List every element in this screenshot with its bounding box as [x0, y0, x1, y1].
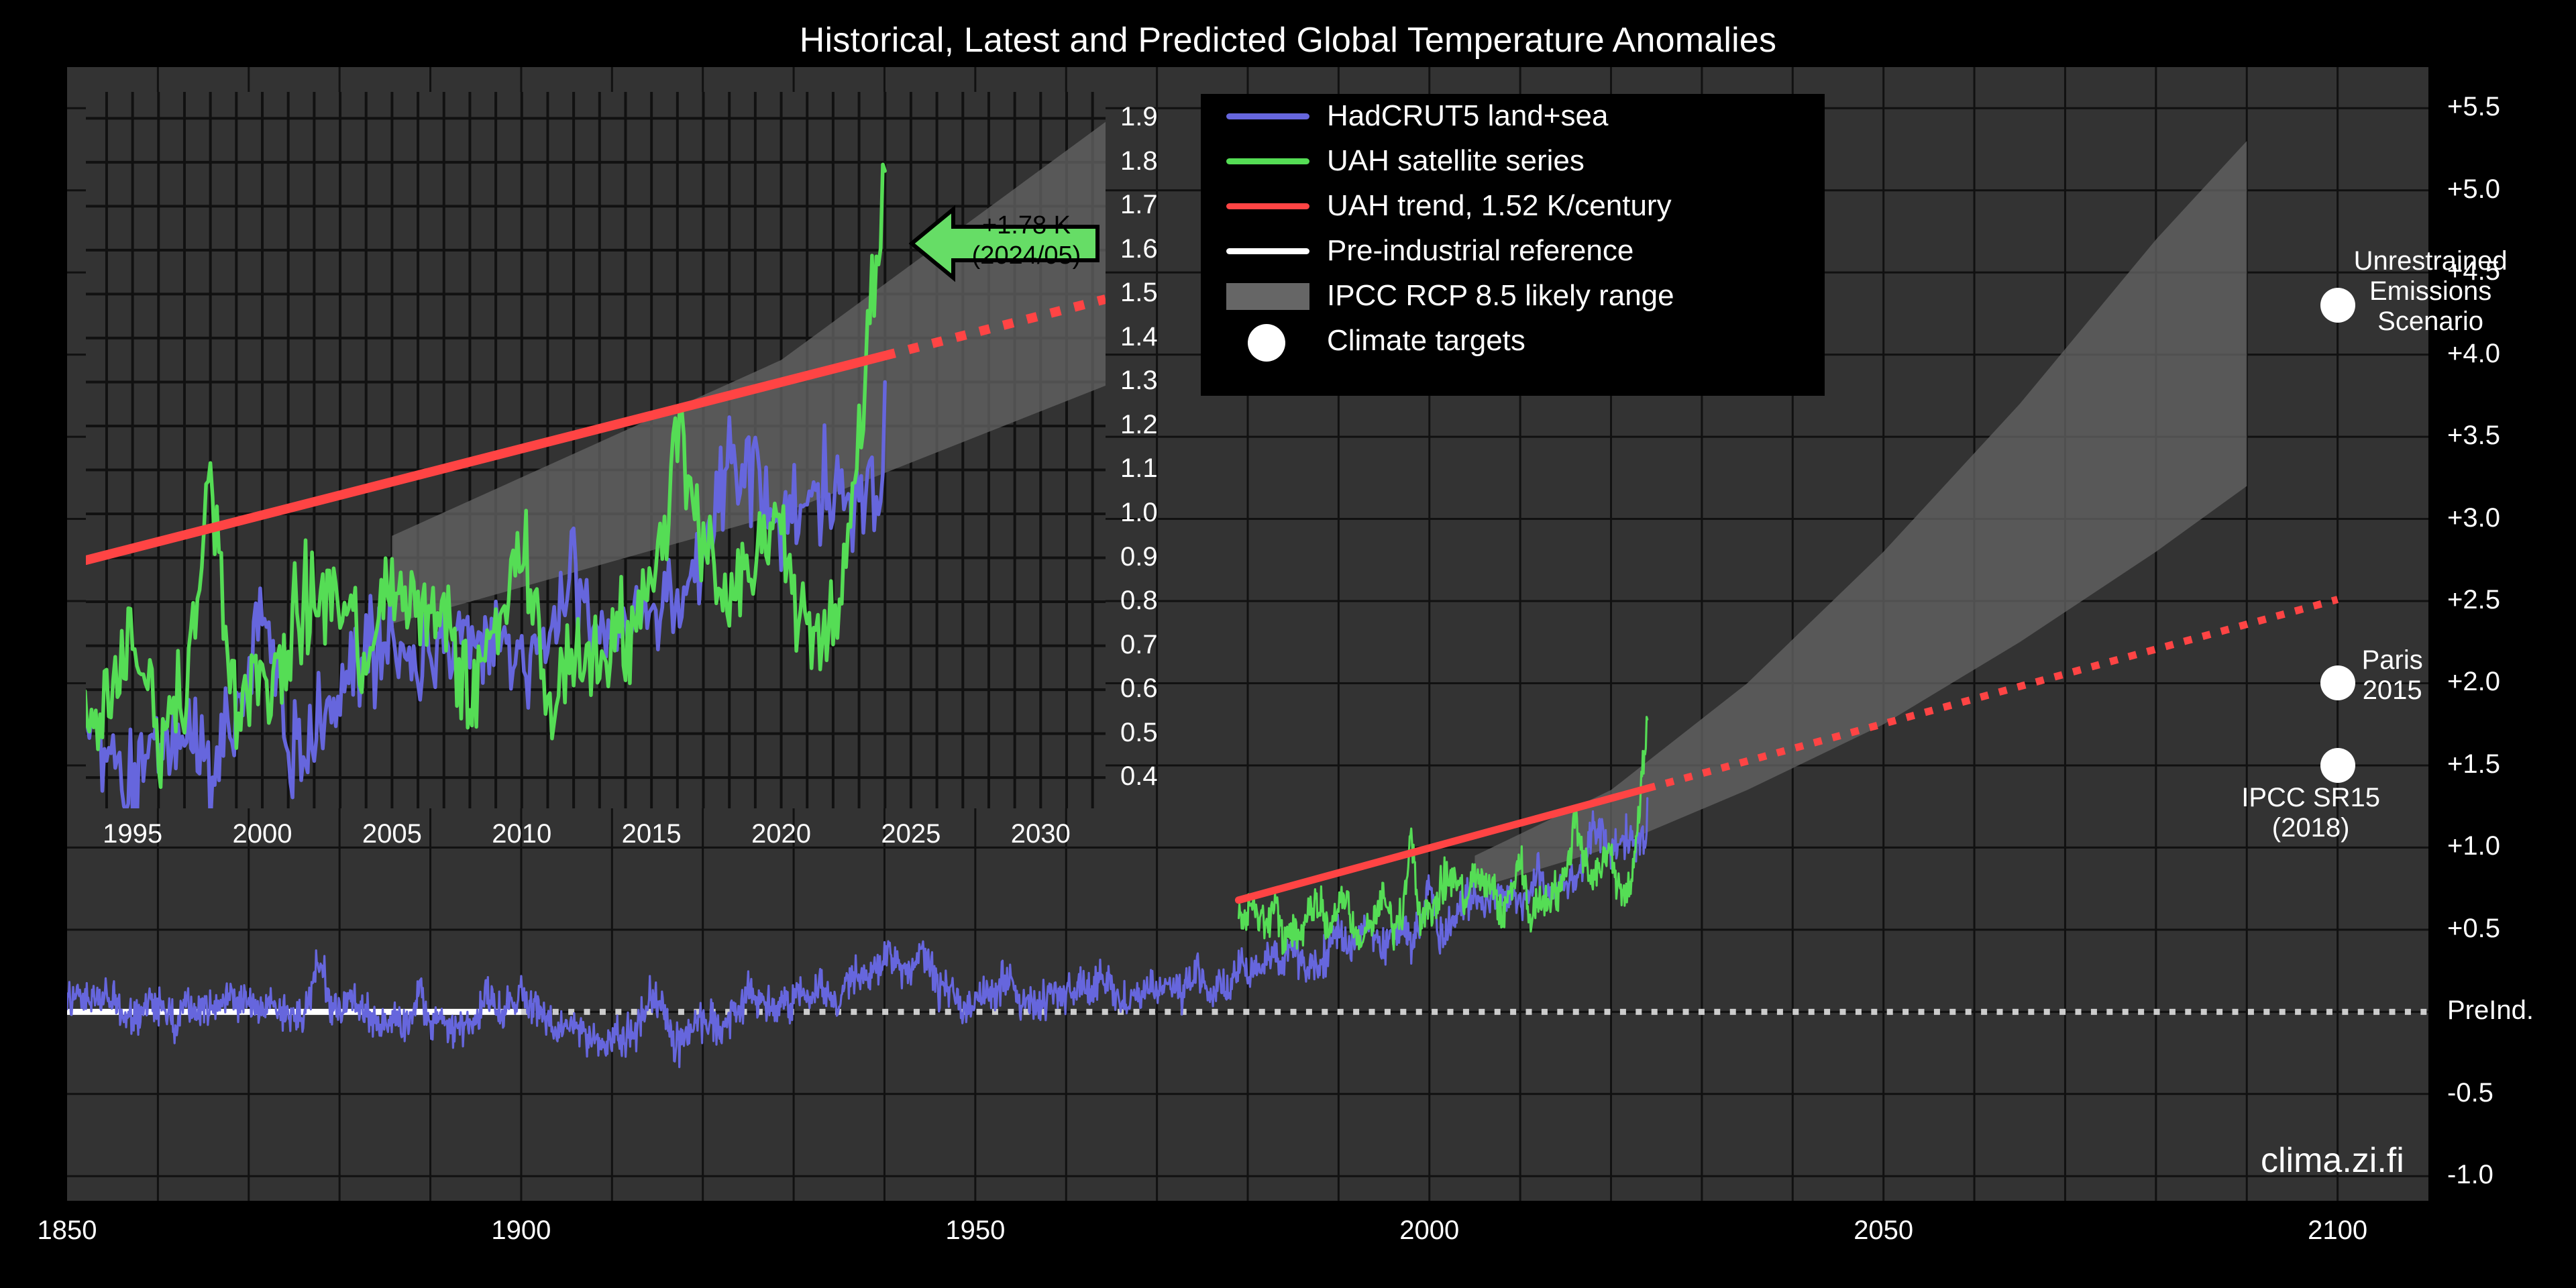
legend-area-mark	[1226, 283, 1309, 310]
inset-y-tick: 1.3	[1120, 366, 1158, 396]
inset-y-tick: 0.8	[1120, 586, 1158, 616]
dot-swatch-icon	[1221, 319, 1315, 363]
main-y-tick: -0.5	[2447, 1078, 2493, 1108]
legend-line-mark	[1226, 113, 1309, 119]
main-y-tick: -1.0	[2447, 1160, 2493, 1190]
legend-label: UAH trend, 1.52 K/century	[1315, 189, 1672, 223]
main-y-tick: +5.0	[2447, 174, 2500, 205]
target-dot-ipcc-sr15-2018	[2320, 748, 2355, 783]
page-title: Historical, Latest and Predicted Global …	[0, 20, 2576, 60]
inset-y-tick: 1.9	[1120, 102, 1158, 132]
legend-label: Climate targets	[1315, 324, 1525, 358]
inset-x-tick: 2025	[844, 819, 978, 849]
inset-y-tick: 1.2	[1120, 410, 1158, 440]
watermark: clima.zi.fi	[2261, 1140, 2404, 1181]
main-x-tick: 1850	[0, 1216, 141, 1246]
inset-y-tick: 1.0	[1120, 498, 1158, 528]
main-y-tick: +2.0	[2447, 667, 2500, 697]
inset-y-tick: 0.6	[1120, 674, 1158, 704]
chart-root: Historical, Latest and Predicted Global …	[0, 0, 2576, 1288]
legend: HadCRUT5 land+seaUAH satellite seriesUAH…	[1201, 94, 1825, 396]
inset-x-tick: 2030	[973, 819, 1108, 849]
main-x-tick: 2000	[1356, 1216, 1503, 1246]
inset-x-tick: 2015	[584, 819, 718, 849]
main-y-tick: +3.0	[2447, 503, 2500, 533]
inset-y-tick: 0.4	[1120, 761, 1158, 792]
main-y-tick: +1.0	[2447, 831, 2500, 861]
main-y-tick: +2.5	[2447, 585, 2500, 615]
main-y-tick: PreInd.	[2447, 996, 2534, 1026]
legend-label: UAH satellite series	[1315, 144, 1585, 178]
inset-y-tick: 0.5	[1120, 718, 1158, 748]
latest-anomaly-callout: +1.78 K(2024/05)	[909, 200, 1100, 287]
inset-x-tick: 2020	[714, 819, 849, 849]
line-swatch-icon	[1221, 139, 1315, 183]
inset-x-tick: 2000	[195, 819, 329, 849]
main-x-tick: 1950	[902, 1216, 1049, 1246]
main-y-tick: +4.0	[2447, 339, 2500, 369]
inset-y-tick: 1.7	[1120, 190, 1158, 220]
legend-item-0[interactable]: HadCRUT5 land+sea	[1221, 94, 1608, 138]
area-swatch-icon	[1221, 274, 1315, 318]
legend-label: IPCC RCP 8.5 likely range	[1315, 279, 1674, 313]
legend-line-mark	[1226, 203, 1309, 209]
legend-line-mark	[1226, 158, 1309, 164]
inset-panel: 1.91.81.71.61.51.41.31.21.11.00.90.80.70…	[0, 60, 1201, 812]
callout-text: +1.78 K(2024/05)	[959, 211, 1093, 271]
target-label-paris-2015: Paris 2015	[2362, 645, 2423, 706]
main-y-tick: +3.5	[2447, 421, 2500, 451]
main-y-tick: +5.5	[2447, 92, 2500, 122]
legend-item-3[interactable]: Pre-industrial reference	[1221, 229, 1633, 273]
line-swatch-icon	[1221, 184, 1315, 228]
inset-y-tick: 1.5	[1120, 278, 1158, 308]
inset-y-tick: 0.7	[1120, 630, 1158, 660]
legend-item-4[interactable]: IPCC RCP 8.5 likely range	[1221, 274, 1674, 318]
main-x-tick: 2050	[1810, 1216, 1957, 1246]
inset-y-tick: 1.6	[1120, 234, 1158, 264]
legend-item-2[interactable]: UAH trend, 1.52 K/century	[1221, 184, 1672, 228]
line-swatch-icon	[1221, 94, 1315, 138]
legend-line-mark	[1226, 248, 1309, 254]
line-swatch-icon	[1221, 229, 1315, 273]
inset-y-tick: 1.1	[1120, 453, 1158, 484]
target-dot-unrestrained-emissions	[2320, 288, 2355, 323]
legend-label: HadCRUT5 land+sea	[1315, 99, 1608, 133]
main-y-tick: +1.5	[2447, 749, 2500, 780]
target-label-ipcc-sr15-2018: IPCC SR15 (2018)	[2190, 783, 2432, 843]
target-label-unrestrained-emissions: Unrestrained Emissions Scenario	[2354, 246, 2508, 336]
main-y-tick: +0.5	[2447, 914, 2500, 944]
legend-label: Pre-industrial reference	[1315, 234, 1633, 268]
target-dot-paris-2015	[2320, 665, 2355, 700]
main-x-tick: 2100	[2264, 1216, 2412, 1246]
inset-y-tick: 0.9	[1120, 542, 1158, 572]
legend-item-1[interactable]: UAH satellite series	[1221, 139, 1585, 183]
legend-item-5[interactable]: Climate targets	[1221, 319, 1525, 363]
callout-date: (2024/05)	[972, 241, 1081, 270]
inset-y-tick: 1.8	[1120, 146, 1158, 176]
inset-x-tick: 2010	[455, 819, 589, 849]
inset-y-tick: 1.4	[1120, 322, 1158, 352]
inset-x-tick: 2005	[325, 819, 459, 849]
main-x-tick: 1900	[447, 1216, 595, 1246]
callout-value: +1.78 K	[982, 211, 1071, 239]
inset-x-tick: 1995	[66, 819, 200, 849]
legend-dot-mark	[1248, 324, 1285, 362]
